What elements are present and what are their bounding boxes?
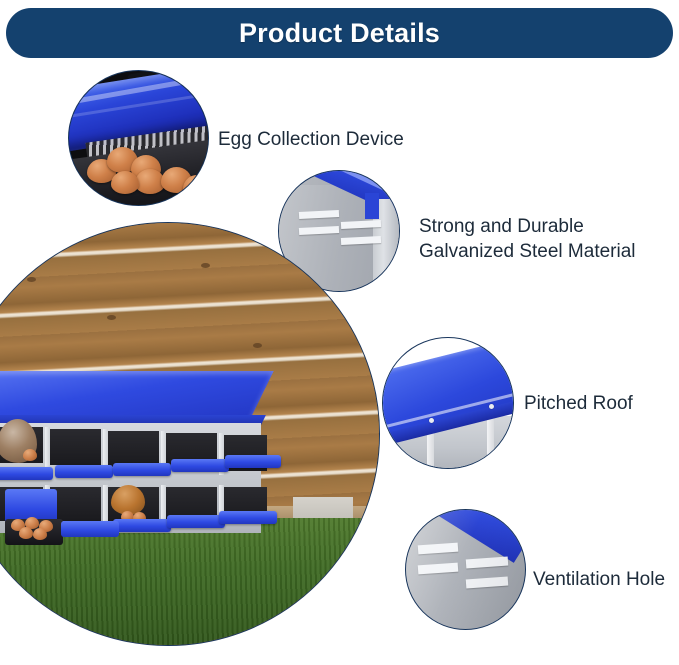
page-title: Product Details	[239, 18, 440, 49]
header-banner: Product Details	[6, 8, 673, 58]
callout-label-egg-collection: Egg Collection Device	[218, 127, 404, 152]
fence-knot	[201, 263, 210, 268]
egg	[111, 171, 139, 194]
fence-knot	[107, 315, 116, 320]
callout-image-ventilation-hole	[405, 509, 526, 630]
cell-divider	[45, 427, 50, 469]
perch	[113, 519, 171, 532]
nesting-box-unit	[0, 371, 291, 551]
perch	[0, 467, 53, 480]
egg	[33, 528, 47, 540]
callout-label-pitched-roof: Pitched Roof	[524, 391, 633, 416]
fence-knot	[27, 277, 36, 282]
egg-drawer-front-flap	[61, 521, 119, 537]
perch	[225, 455, 281, 468]
metal-sheen	[406, 510, 525, 629]
perch	[113, 463, 171, 476]
callout-image-pitched-roof	[382, 337, 514, 469]
perch	[171, 459, 229, 472]
fence-knot	[253, 343, 262, 348]
cell-divider	[103, 485, 108, 525]
perch	[219, 511, 277, 524]
callout-label-ventilation-hole: Ventilation Hole	[533, 567, 665, 592]
blue-corner-bracket	[365, 193, 379, 219]
main-product-photo	[0, 222, 380, 646]
nesting-cell	[49, 429, 101, 465]
roof-rivet	[429, 418, 434, 423]
egg-lid-highlight	[68, 75, 207, 106]
callout-image-egg-collection	[68, 70, 209, 206]
roof-rivet	[489, 404, 494, 409]
product-details-infographic: Product Details Egg Collection Device St…	[0, 0, 679, 665]
corner-post	[487, 416, 494, 468]
egg	[183, 175, 209, 199]
egg	[23, 449, 37, 461]
nesting-cell	[107, 431, 159, 467]
perch	[167, 515, 225, 528]
perch	[55, 465, 113, 478]
egg	[19, 527, 33, 539]
callout-label-galvanized-steel: Strong and Durable Galvanized Steel Mate…	[419, 214, 636, 264]
